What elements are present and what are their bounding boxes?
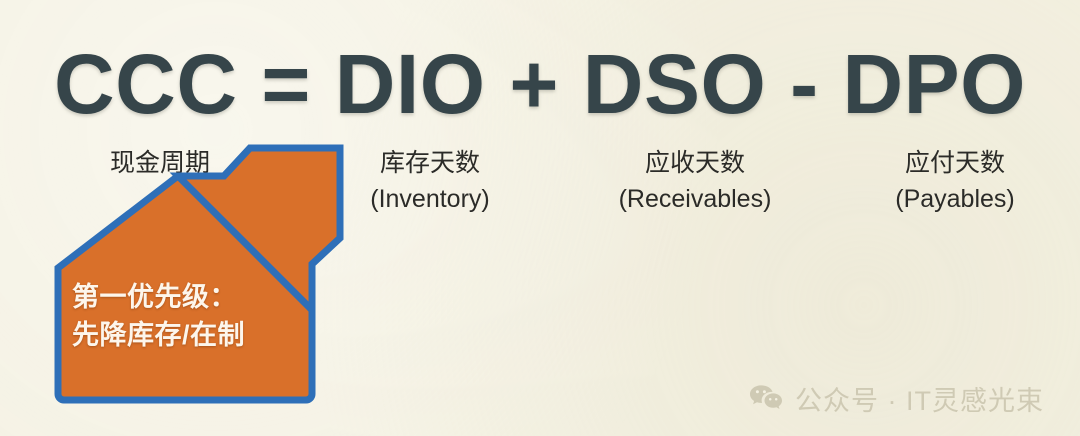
term-label-dso-cn: 应收天数 [570,146,820,182]
term-label-dso-en: (Receivables) [570,182,820,218]
arrow-up-right-icon [178,148,340,310]
term-label-dpo-en: (Payables) [840,182,1070,218]
term-label-dso: 应收天数 (Receivables) [570,146,820,217]
watermark-text: 公众号 · IT灵感光束 [795,379,1044,418]
term-label-dpo-cn: 应付天数 [840,146,1070,182]
watermark: 公众号 · IT灵感光束 [749,379,1044,418]
slide-canvas: CCC = DIO + DSO - DPO 现金周期 库存天数 (Invento… [0,0,1080,436]
arrow-graphic [28,128,368,428]
wechat-icon [749,384,783,414]
term-label-dpo: 应付天数 (Payables) [840,146,1070,217]
formula-headline: CCC = DIO + DSO - DPO [0,42,1080,126]
